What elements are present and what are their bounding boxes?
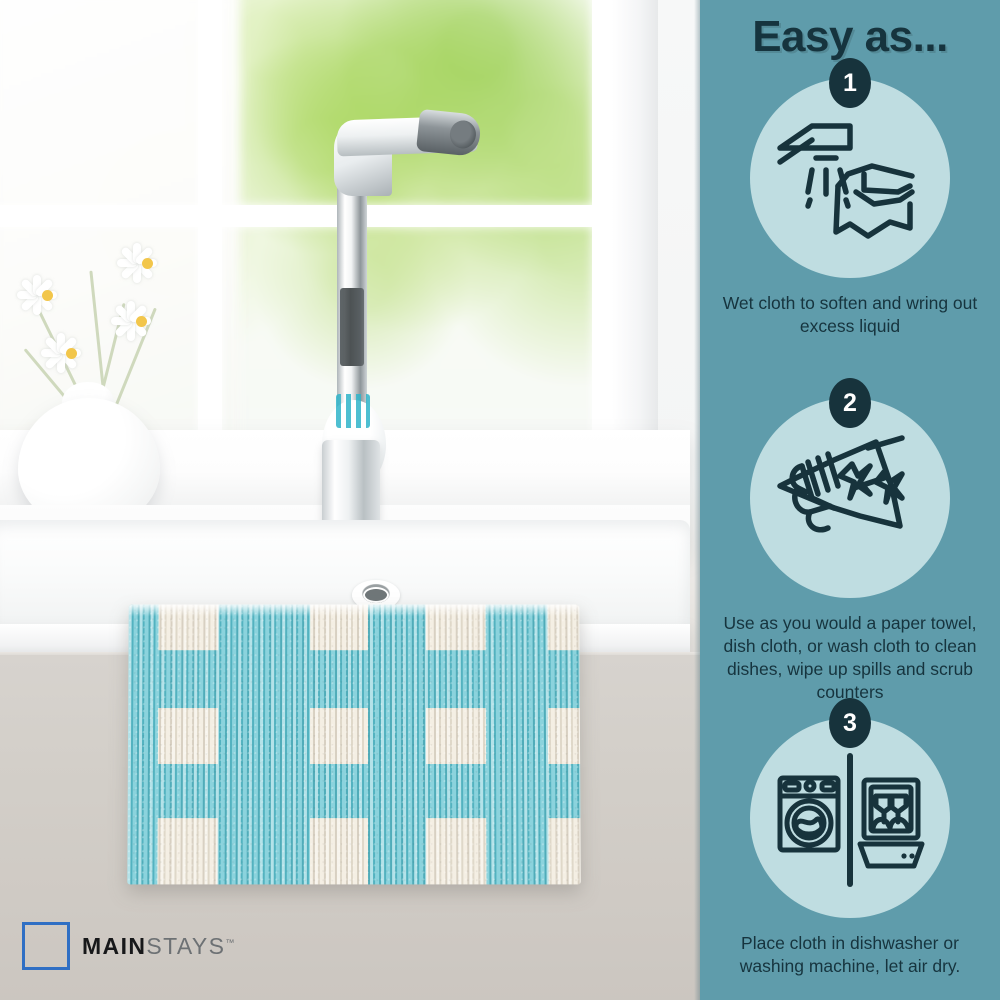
panel-title: Easy as... (700, 12, 1000, 62)
daisy-flower (118, 298, 164, 344)
step-1-caption: Wet cloth to soften and wring out excess… (711, 292, 989, 338)
step-2: 2 (700, 398, 1000, 704)
faucet-water-wringing-cloth-icon (772, 100, 928, 256)
logo-square-icon (22, 922, 70, 970)
logo-trademark: ™ (225, 937, 235, 947)
logo-stays-text: STAYS (146, 933, 225, 959)
window-mullion-horizontal (0, 205, 630, 227)
step-3-icon-wrap: 3 (750, 718, 950, 918)
step-1: 1 (700, 78, 1000, 338)
daisy-flower (48, 330, 94, 376)
cloth-fold-highlight (129, 604, 580, 616)
infographic-canvas: MAINSTAYS™ Easy as... 1 (0, 0, 1000, 1000)
step-2-badge: 2 (829, 378, 871, 428)
step-2-caption: Use as you would a paper towel, dish clo… (711, 612, 989, 704)
sponge-cloth (127, 604, 580, 884)
instruction-panel: Easy as... 1 (700, 0, 1000, 1000)
window-frame-right (612, 0, 658, 490)
step-3: 3 (700, 718, 1000, 978)
step-2-icon-wrap: 2 (750, 398, 950, 598)
faucet-reflection (340, 288, 364, 366)
hand-wiping-cloth-sparkle-icon (772, 420, 928, 576)
cloth-fiber-noise (127, 604, 580, 884)
logo-main-text: MAIN (82, 933, 146, 959)
brand-logo: MAINSTAYS™ (22, 922, 236, 970)
step-1-icon-wrap: 1 (750, 78, 950, 278)
faucet-base (322, 440, 380, 530)
step-3-badge: 3 (829, 698, 871, 748)
step-1-badge: 1 (829, 58, 871, 108)
logo-wordmark: MAINSTAYS™ (82, 933, 236, 960)
washing-machine-dishwasher-icon (772, 740, 928, 896)
daisy-flower (24, 272, 70, 318)
product-photo: MAINSTAYS™ (0, 0, 700, 1000)
window-mullion-vertical-left (198, 0, 222, 470)
step-3-caption: Place cloth in dishwasher or washing mac… (711, 932, 989, 978)
daisy-flower (124, 240, 170, 286)
